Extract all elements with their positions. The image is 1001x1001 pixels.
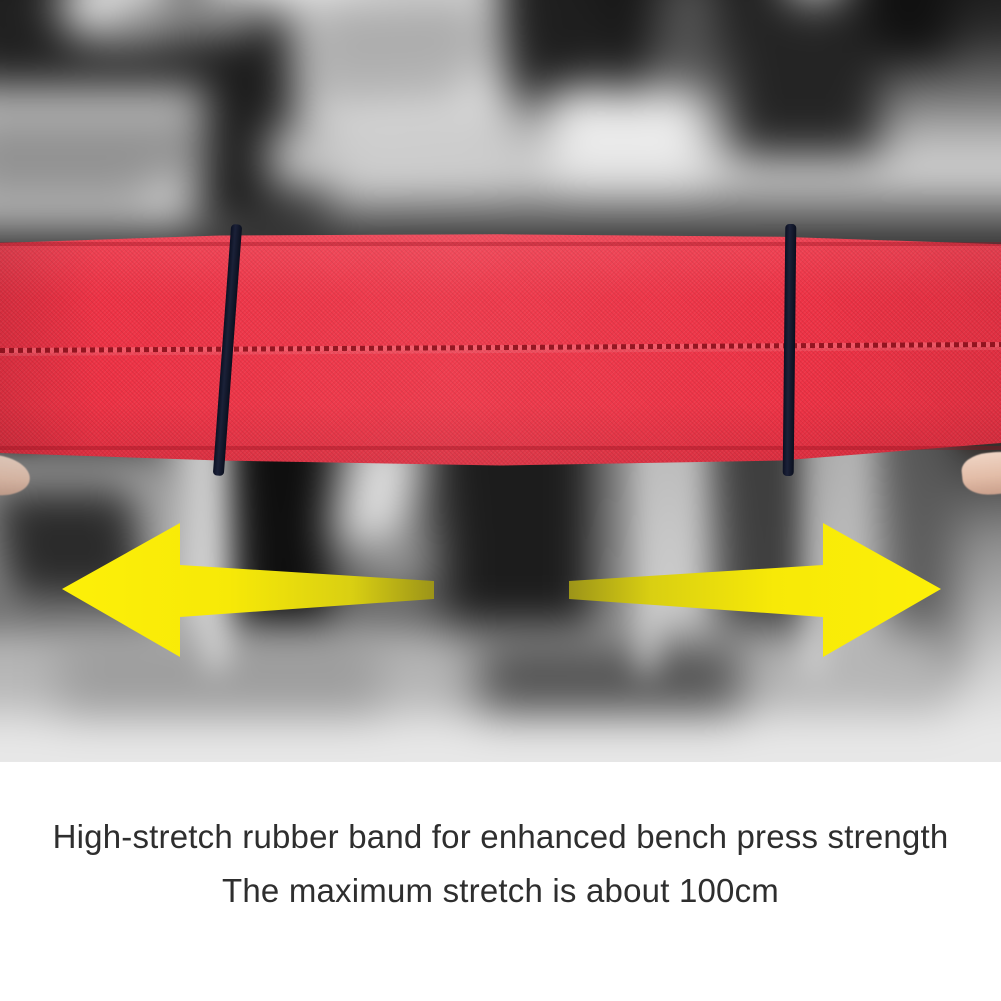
band-bottom-hem: [0, 446, 1001, 450]
caption-line-2: The maximum stretch is about 100cm: [222, 864, 779, 918]
resistance-band: [0, 228, 1001, 478]
band-top-hem: [0, 242, 1001, 246]
stretch-arrow-left-icon: [58, 515, 438, 665]
caption-block: High-stretch rubber band for enhanced be…: [0, 762, 1001, 1001]
caption-line-1: High-stretch rubber band for enhanced be…: [53, 810, 949, 864]
product-photo: [0, 0, 1001, 762]
stretch-arrow-right-icon: [565, 515, 945, 665]
product-image-card: High-stretch rubber band for enhanced be…: [0, 0, 1001, 1001]
